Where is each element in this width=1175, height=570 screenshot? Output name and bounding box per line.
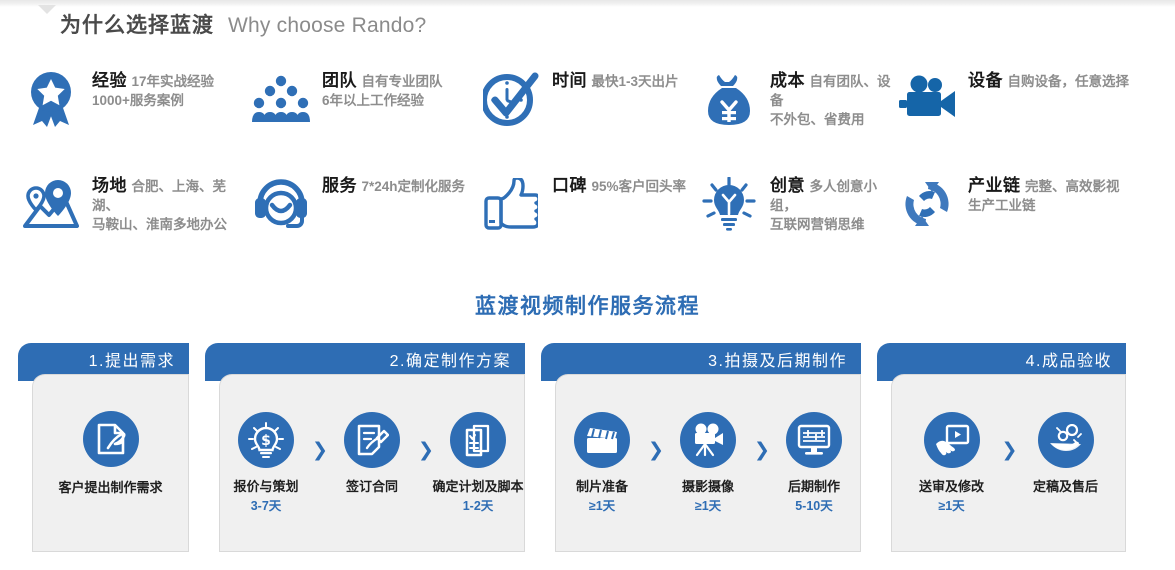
process-step-duration: 1-2天 (463, 498, 494, 515)
process-step-label: 客户提出制作需求 (58, 480, 162, 496)
process-card-1-steps: 客户提出制作需求 (33, 375, 188, 551)
process-step-duration: 3-7天 (251, 498, 282, 515)
team-people-icon (252, 70, 310, 128)
process-step-label: 后期制作 (788, 479, 840, 495)
feature-item-equipment: 设备 自购设备，任意选择 (898, 68, 1148, 173)
process-card-4-steps: 送审及修改 ≥1天 ❯ (892, 375, 1125, 551)
feature-item-experience: 经验 17年实战经验 1000+服务案例 (22, 68, 252, 173)
process-step-label: 签订合同 (346, 479, 398, 495)
feature-desc: 7*24h定制化服务 (361, 179, 465, 194)
feature-text: 成本 自有团队、设备 不外包、省费用 (770, 68, 898, 129)
money-bag-yuan-icon (700, 70, 758, 128)
page-title: 为什么选择蓝渡 Why choose Rando? (60, 9, 426, 39)
process-card-2-body: $ 报价与策划 3-7天 ❯ (219, 374, 525, 552)
process-step-duration: ≥1天 (938, 498, 964, 515)
chevron-right-icon: ❯ (312, 439, 326, 461)
feature-title: 产业链 (968, 176, 1021, 195)
feature-title: 经验 (92, 71, 127, 90)
process-step[interactable]: $ 报价与策划 3-7天 (220, 412, 312, 515)
chevron-right-icon: ❯ (418, 439, 432, 461)
lightbulb-dollar-icon: $ (238, 412, 294, 468)
movie-camera-tripod-icon (680, 412, 736, 468)
process-card-4: 4.成品验收 送审及修改 ≥1天 ❯ (877, 343, 1126, 552)
process-card-2-steps: $ 报价与策划 3-7天 ❯ (220, 375, 524, 551)
feature-title: 团队 (322, 71, 357, 90)
process-step-label: 制片准备 (576, 479, 628, 495)
feature-title: 成本 (770, 71, 805, 90)
process-card-1-body: 客户提出制作需求 (32, 374, 189, 552)
feature-item-creativity: 创意 多人创意小组， 互联网营销思维 (700, 173, 898, 268)
clock-check-icon (482, 70, 540, 128)
process-card-4-body: 送审及修改 ≥1天 ❯ (891, 374, 1126, 552)
top-band (0, 0, 1175, 7)
video-camera-icon (898, 70, 956, 128)
monitor-editing-icon (786, 412, 842, 468)
process-step[interactable]: 签订合同 (326, 412, 418, 515)
process-card-2: 2.确定制作方案 (205, 343, 525, 552)
process-step-label: 报价与策划 (233, 479, 298, 495)
feature-item-cost: 成本 自有团队、设备 不外包、省费用 (700, 68, 898, 173)
feature-title: 设备 (968, 71, 1003, 90)
feature-text: 时间 最快1-3天出片 (552, 68, 678, 91)
thumbs-up-icon (482, 175, 540, 233)
feature-title: 口碑 (552, 176, 587, 195)
process-section-title: 蓝渡视频制作服务流程 (0, 290, 1175, 320)
process-card-1-header-label: 1.提出需求 (89, 354, 175, 370)
svg-text:$: $ (261, 433, 271, 449)
process-step[interactable]: 客户提出制作需求 (41, 411, 181, 516)
feature-title: 创意 (770, 176, 805, 195)
feature-item-time: 时间 最快1-3天出片 (482, 68, 700, 173)
feature-text: 经验 17年实战经验 1000+服务案例 (92, 68, 214, 110)
process-card-3-body: 制片准备 ≥1天 ❯ (555, 374, 861, 552)
feature-title: 服务 (322, 176, 357, 195)
map-pin-icon (22, 175, 80, 233)
page-title-en: Why choose Rando? (228, 14, 426, 38)
script-documents-icon (450, 412, 506, 468)
feature-title: 时间 (552, 71, 587, 90)
process-step-label: 送审及修改 (919, 479, 984, 495)
process-step-label: 定稿及售后 (1033, 479, 1098, 495)
feature-text: 产业链 完整、高效影视 生产工业链 (968, 173, 1119, 215)
feature-text: 场地 合肥、上海、芜湖、 马鞍山、淮南多地办公 (92, 173, 252, 234)
top-notch-triangle-icon (38, 5, 56, 14)
chevron-right-icon: ❯ (648, 439, 662, 461)
feature-text: 服务 7*24h定制化服务 (322, 173, 465, 196)
feature-item-venue: 场地 合肥、上海、芜湖、 马鞍山、淮南多地办公 (22, 173, 252, 268)
feature-desc: 自购设备，任意选择 (1007, 74, 1129, 89)
clapperboard-icon (574, 412, 630, 468)
process-card-2-header-label: 2.确定制作方案 (390, 354, 511, 370)
feature-desc: 最快1-3天出片 (591, 74, 678, 89)
feature-text: 口碑 95%客户回头率 (552, 173, 686, 196)
process-card-3: 3.拍摄及后期制作 (541, 343, 861, 552)
process-step[interactable]: 定稿及售后 (1016, 412, 1116, 515)
process-card-4-header-label: 4.成品验收 (1026, 354, 1112, 370)
feature-item-industry-chain: 产业链 完整、高效影视 生产工业链 (898, 173, 1148, 268)
feature-desc: 95%客户回头率 (591, 179, 686, 194)
feature-title: 场地 (92, 176, 127, 195)
headset-support-icon (252, 175, 310, 233)
process-step[interactable]: 摄影摄像 ≥1天 (662, 412, 754, 515)
feature-text: 设备 自购设备，任意选择 (968, 68, 1129, 91)
document-pen-icon (83, 411, 139, 467)
feature-item-service: 服务 7*24h定制化服务 (252, 173, 482, 268)
feature-item-team: 团队 自有专业团队 6年以上工作经验 (252, 68, 482, 173)
process-step-duration: ≥1天 (695, 498, 721, 515)
feature-item-reputation: 口碑 95%客户回头率 (482, 173, 700, 268)
lightbulb-idea-icon (700, 175, 758, 233)
hand-coins-icon (1038, 412, 1094, 468)
process-step-label: 摄影摄像 (682, 479, 734, 495)
process-card-3-steps: 制片准备 ≥1天 ❯ (556, 375, 860, 551)
process-step[interactable]: 制片准备 ≥1天 (556, 412, 648, 515)
process-step[interactable]: 送审及修改 ≥1天 (902, 412, 1002, 515)
process-step-label: 确定计划及脚本 (432, 479, 523, 495)
page-title-cn: 为什么选择蓝渡 (60, 9, 214, 39)
process-step-duration: 5-10天 (795, 498, 833, 515)
process-cards: 1.提出需求 客户提出制作需求 2. (18, 343, 1126, 552)
chevron-right-icon: ❯ (1002, 439, 1016, 461)
medal-ribbon-icon (22, 70, 80, 128)
chevron-right-icon: ❯ (754, 439, 768, 461)
process-step[interactable]: 确定计划及脚本 1-2天 (432, 412, 524, 515)
contract-sign-icon (344, 412, 400, 468)
handshake-screen-icon (924, 412, 980, 468)
recycle-arrows-icon (898, 175, 956, 233)
feature-text: 团队 自有专业团队 6年以上工作经验 (322, 68, 442, 110)
process-step-duration: ≥1天 (589, 498, 615, 515)
process-card-3-header-label: 3.拍摄及后期制作 (708, 354, 847, 370)
process-card-1: 1.提出需求 客户提出制作需求 (18, 343, 189, 552)
process-step[interactable]: 后期制作 5-10天 (768, 412, 860, 515)
features-grid: 经验 17年实战经验 1000+服务案例 团队 自有专业团队 6年以上工作经验 (22, 68, 1162, 268)
feature-text: 创意 多人创意小组， 互联网营销思维 (770, 173, 898, 234)
